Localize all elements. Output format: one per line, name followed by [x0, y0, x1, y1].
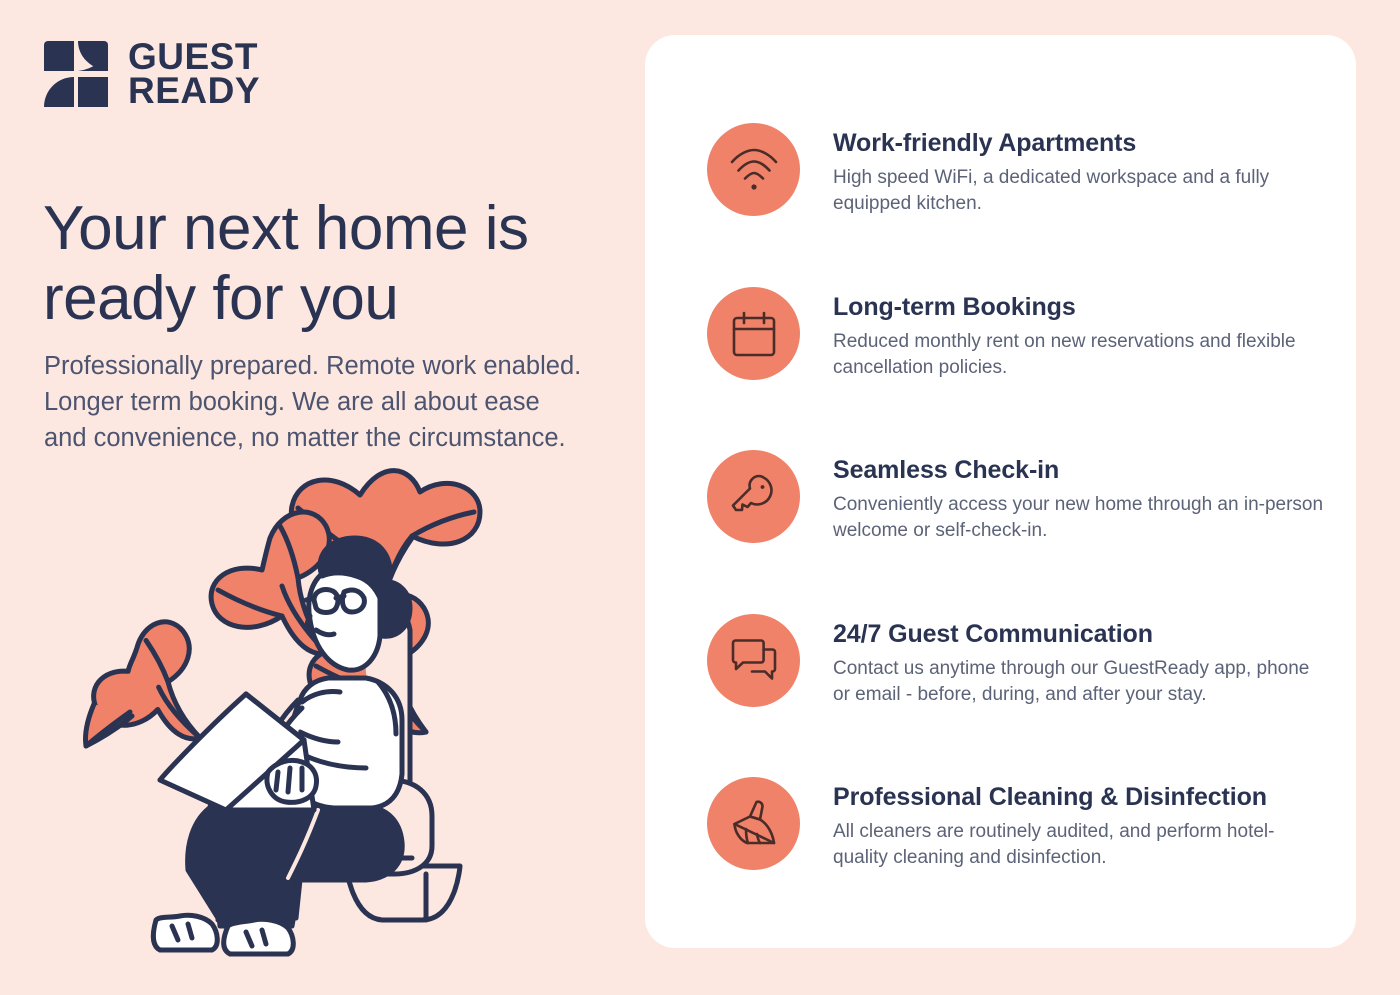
feature-icon-badge	[707, 123, 800, 216]
feature-icon-badge	[707, 450, 800, 543]
key-icon	[729, 474, 779, 520]
brand-name-line2: READY	[128, 74, 260, 108]
feature-title: 24/7 Guest Communication	[833, 619, 1327, 649]
feature-description: Contact us anytime through our GuestRead…	[833, 656, 1327, 708]
feature-title: Long-term Bookings	[833, 292, 1327, 322]
page-title: Your next home is ready for you	[43, 194, 623, 334]
feature-title: Work-friendly Apartments	[833, 128, 1327, 158]
wifi-icon	[729, 148, 779, 192]
feature-text: Professional Cleaning & Disinfection All…	[833, 777, 1327, 871]
poster-canvas: GUEST READY Your next home is ready for …	[0, 0, 1400, 995]
feature-description: High speed WiFi, a dedicated workspace a…	[833, 165, 1327, 217]
guestready-quadrant-logo-icon	[44, 41, 108, 107]
brand-logo[interactable]: GUEST READY	[44, 40, 260, 108]
feature-item[interactable]: Professional Cleaning & Disinfection All…	[707, 777, 1327, 871]
feature-text: Seamless Check-in Conveniently access yo…	[833, 450, 1327, 544]
calendar-icon	[731, 310, 777, 358]
feature-title: Seamless Check-in	[833, 455, 1327, 485]
feature-description: All cleaners are routinely audited, and …	[833, 819, 1327, 871]
feature-text: Long-term Bookings Reduced monthly rent …	[833, 287, 1327, 381]
feature-description: Reduced monthly rent on new reservations…	[833, 329, 1327, 381]
woman-reading-laptop-illustration	[60, 450, 580, 960]
feature-item[interactable]: Work-friendly Apartments High speed WiFi…	[707, 123, 1327, 217]
feature-item[interactable]: Seamless Check-in Conveniently access yo…	[707, 450, 1327, 544]
brand-name-line1: GUEST	[128, 40, 260, 74]
feature-text: Work-friendly Apartments High speed WiFi…	[833, 123, 1327, 217]
feature-icon-badge	[707, 614, 800, 707]
hero-subtext: Professionally prepared. Remote work ena…	[44, 348, 589, 457]
brand-wordmark: GUEST READY	[128, 40, 260, 108]
feature-text: 24/7 Guest Communication Contact us anyt…	[833, 614, 1327, 708]
features-card: Work-friendly Apartments High speed WiFi…	[645, 35, 1356, 948]
feature-item[interactable]: 24/7 Guest Communication Contact us anyt…	[707, 614, 1327, 708]
feature-item[interactable]: Long-term Bookings Reduced monthly rent …	[707, 287, 1327, 381]
feature-icon-badge	[707, 777, 800, 870]
broom-icon	[729, 799, 779, 849]
feature-description: Conveniently access your new home throug…	[833, 492, 1327, 544]
feature-title: Professional Cleaning & Disinfection	[833, 782, 1327, 812]
hero-panel: GUEST READY Your next home is ready for …	[0, 0, 640, 995]
feature-icon-badge	[707, 287, 800, 380]
chat-bubbles-icon	[730, 639, 778, 683]
